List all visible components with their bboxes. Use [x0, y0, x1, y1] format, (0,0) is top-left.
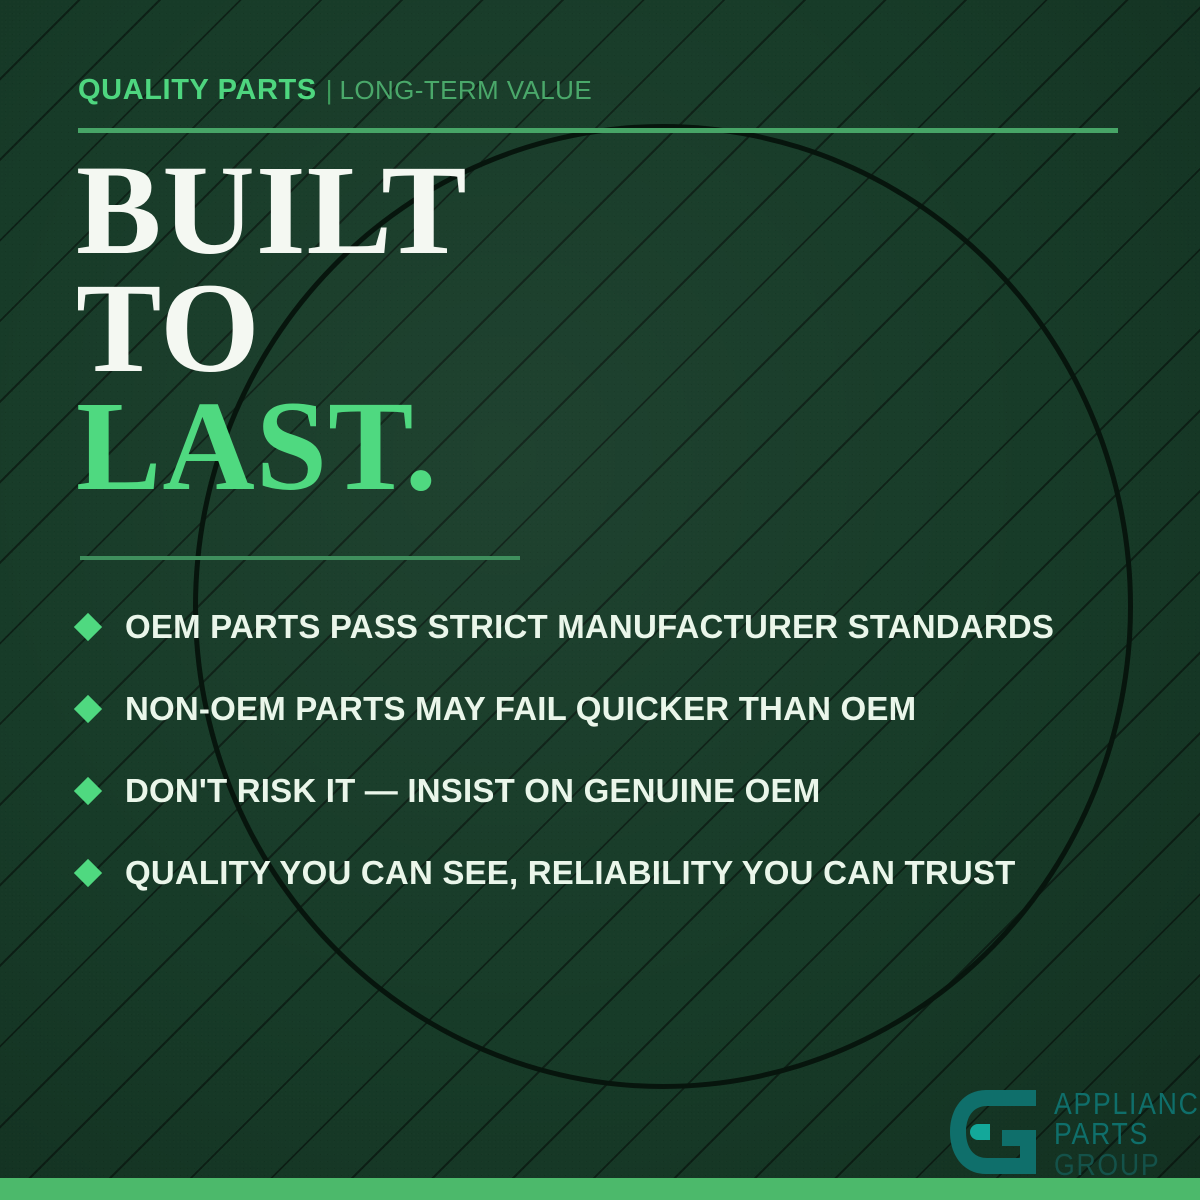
headline-line-1: BUILT: [76, 152, 468, 270]
diamond-bullet-icon: [74, 777, 102, 805]
poster-content: QUALITY PARTS|LONG-TERM VALUE BUILT TO L…: [0, 0, 1200, 1200]
kicker-strong-label: QUALITY PARTS: [78, 74, 317, 106]
kicker-light-label: LONG-TERM VALUE: [340, 75, 593, 105]
list-item: QUALITY YOU CAN SEE, RELIABILITY YOU CAN…: [78, 832, 1168, 914]
kicker-separator: |: [326, 75, 333, 105]
headline-line-3: LAST.: [76, 388, 468, 506]
bottom-accent-bar: [0, 1178, 1200, 1200]
list-item-label: DON'T RISK IT — INSIST ON GENUINE OEM: [125, 772, 820, 810]
diamond-bullet-icon: [74, 613, 102, 641]
appliance-parts-group-g-mark-icon: [944, 1086, 1042, 1178]
kicker-line: QUALITY PARTS|LONG-TERM VALUE: [78, 76, 592, 105]
poster-canvas: QUALITY PARTS|LONG-TERM VALUE BUILT TO L…: [0, 0, 1200, 1200]
logo-word-group: GROUP: [1054, 1150, 1200, 1180]
logo-word-appliance: APPLIANCE: [1054, 1089, 1200, 1119]
brand-logo-wordmark: APPLIANCE PARTS GROUP: [1054, 1086, 1200, 1180]
list-item: DON'T RISK IT — INSIST ON GENUINE OEM: [78, 750, 1168, 832]
list-item: NON-OEM PARTS MAY FAIL QUICKER THAN OEM: [78, 668, 1168, 750]
benefits-list: OEM PARTS PASS STRICT MANUFACTURER STAND…: [78, 586, 1168, 914]
diamond-bullet-icon: [74, 695, 102, 723]
brand-logo: APPLIANCE PARTS GROUP: [944, 1086, 1200, 1180]
list-item: OEM PARTS PASS STRICT MANUFACTURER STAND…: [78, 586, 1168, 668]
diamond-bullet-icon: [74, 859, 102, 887]
list-item-label: QUALITY YOU CAN SEE, RELIABILITY YOU CAN…: [125, 854, 1016, 892]
header-divider-rule: [78, 128, 1118, 133]
headline-divider-rule: [80, 556, 520, 560]
headline-line-2: TO: [76, 270, 468, 388]
list-item-label: OEM PARTS PASS STRICT MANUFACTURER STAND…: [125, 608, 1054, 646]
page-title: BUILT TO LAST.: [76, 152, 468, 505]
logo-word-parts: PARTS: [1054, 1119, 1200, 1149]
list-item-label: NON-OEM PARTS MAY FAIL QUICKER THAN OEM: [125, 690, 916, 728]
